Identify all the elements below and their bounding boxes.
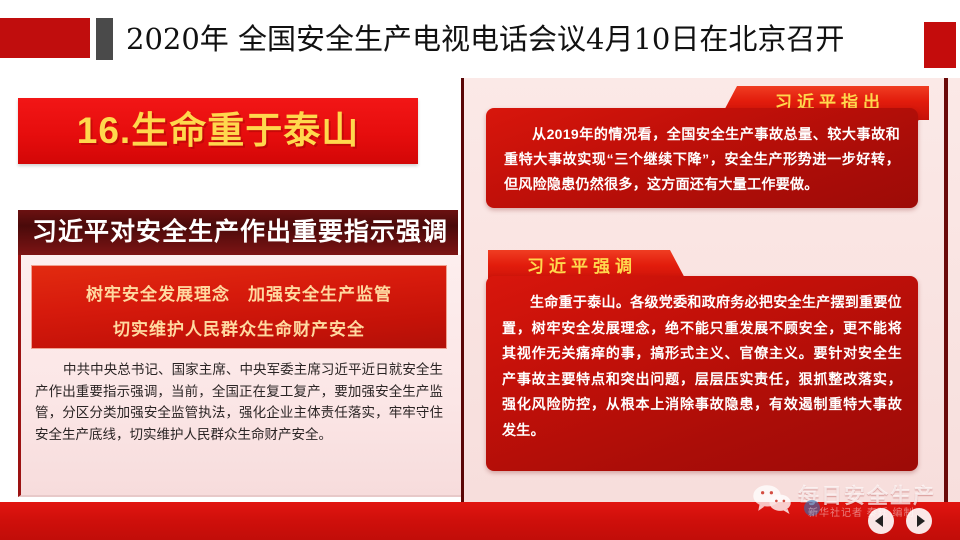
- right-outer-strip: [948, 78, 960, 540]
- quote-box-1: 从2019年的情况看，全国安全生产事故总量、较大事故和重特大事故实现“三个继续下…: [486, 108, 918, 208]
- slide-root: 2020年 全国安全生产电视电话会议4月10日在北京召开 16.生命重于泰山 习…: [0, 0, 960, 540]
- slogan-line-2: 切实维护人民群众生命财产安全: [32, 315, 446, 340]
- header-corner-red-square: [924, 22, 956, 68]
- wechat-icon: [752, 484, 792, 514]
- page-title: 2020年 全国安全生产电视电话会议4月10日在北京召开: [126, 16, 844, 62]
- nav-next-button[interactable]: [906, 508, 932, 534]
- slide-header: 2020年 全国安全生产电视电话会议4月10日在北京召开: [0, 0, 960, 78]
- section-title-banner: 16.生命重于泰山: [18, 98, 418, 164]
- quote-box-2: 生命重于泰山。各级党委和政府务必把安全生产摆到重要位置，树牢安全发展理念，绝不能…: [486, 276, 918, 471]
- right-panel: 习近平指出 从2019年的情况看，全国安全生产事故总量、较大事故和重特大事故实现…: [464, 78, 944, 502]
- section-title-text: 16.生命重于泰山: [18, 98, 418, 164]
- quote-text-2: 生命重于泰山。各级党委和政府务必把安全生产摆到重要位置，树牢安全发展理念，绝不能…: [502, 290, 902, 443]
- header-red-block: [0, 18, 90, 58]
- slogan-line-1: 树牢安全发展理念 加强安全生产监管: [32, 280, 446, 305]
- watermark-subtext: 新华社记者 秦廷 编制: [808, 504, 915, 519]
- header-dark-block: [96, 18, 113, 60]
- directive-title-bar: 习近平对安全生产作出重要指示强调: [18, 210, 458, 255]
- slogan-box: 树牢安全发展理念 加强安全生产监管 切实维护人民群众生命财产安全: [31, 265, 447, 349]
- nav-prev-button[interactable]: [868, 508, 894, 534]
- quote-text-1: 从2019年的情况看，全国安全生产事故总量、较大事故和重特大事故实现“三个继续下…: [504, 122, 900, 197]
- chevron-left-icon: [875, 515, 883, 527]
- left-content-card: 树牢安全发展理念 加强安全生产监管 切实维护人民群众生命财产安全 中共中央总书记…: [18, 255, 463, 497]
- chevron-right-icon: [917, 515, 925, 527]
- directive-title-text: 习近平对安全生产作出重要指示强调: [18, 210, 458, 255]
- left-paragraph: 中共中央总书记、国家主席、中央军委主席习近平近日就安全生产作出重要指示强调，当前…: [35, 359, 443, 445]
- left-panel: 16.生命重于泰山 习近平对安全生产作出重要指示强调 树牢安全发展理念 加强安全…: [0, 78, 462, 502]
